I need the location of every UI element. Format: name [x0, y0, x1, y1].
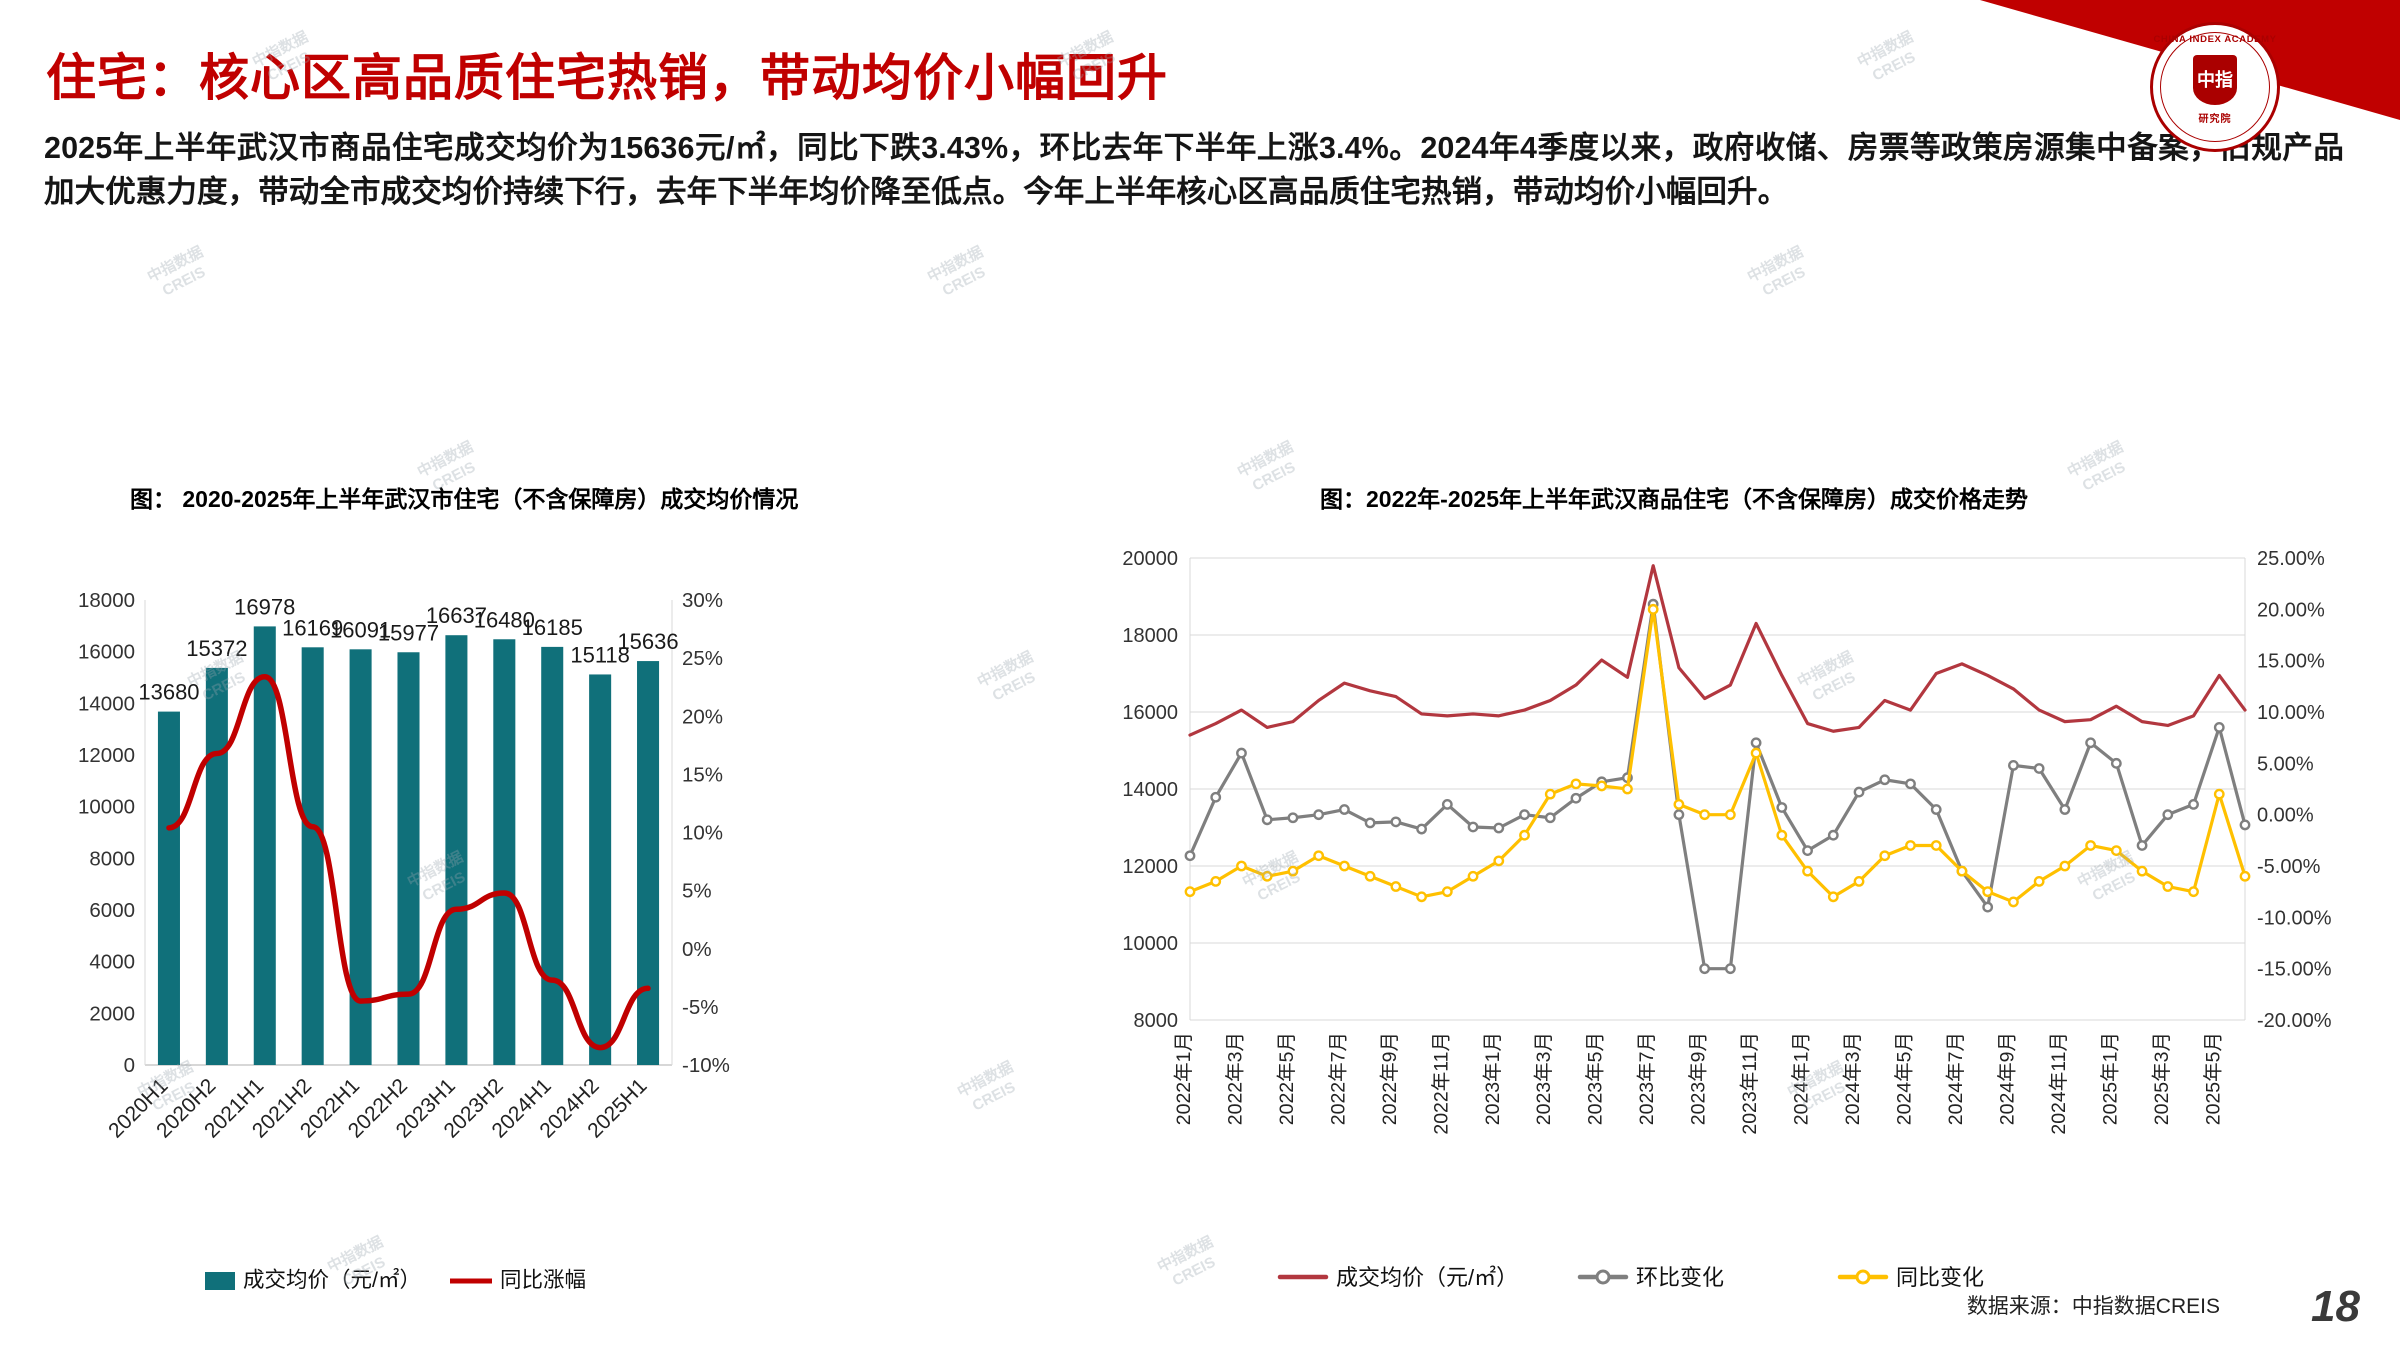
svg-text:-10%: -10%: [682, 1054, 730, 1077]
watermark: 中指数据CREIS: [1235, 438, 1305, 499]
page-title: 住宅：核心区高品质住宅热销，带动均价小幅回升: [46, 38, 1168, 110]
watermark: 中指数据CREIS: [975, 648, 1045, 709]
left-chart-title: 图： 2020-2025年上半年武汉市住宅（不含保障房）成交均价情况: [130, 480, 798, 514]
svg-text:14000: 14000: [1122, 779, 1178, 801]
svg-text:-15.00%: -15.00%: [2257, 959, 2332, 981]
svg-text:2023年1月: 2023年1月: [1482, 1032, 1504, 1125]
svg-text:环比变化: 环比变化: [1636, 1265, 1724, 1290]
logo-ring: [2160, 32, 2270, 142]
svg-text:16000: 16000: [78, 641, 135, 664]
svg-text:0%: 0%: [682, 938, 712, 961]
svg-text:18000: 18000: [78, 589, 135, 612]
svg-text:30%: 30%: [682, 589, 723, 612]
svg-text:2023年5月: 2023年5月: [1585, 1032, 1607, 1125]
svg-text:10000: 10000: [78, 796, 135, 819]
svg-text:4000: 4000: [89, 951, 135, 974]
svg-text:15.00%: 15.00%: [2257, 651, 2325, 673]
summary-paragraph: 2025年上半年武汉市商品住宅成交均价为15636元/㎡，同比下跌3.43%，环…: [44, 126, 2344, 214]
svg-text:25.00%: 25.00%: [2257, 548, 2325, 570]
svg-text:5%: 5%: [682, 880, 712, 903]
svg-text:2023年7月: 2023年7月: [1636, 1032, 1658, 1125]
right-chart: 8000100001200014000160001800020000-20.00…: [1080, 530, 2380, 1320]
svg-text:同比变化: 同比变化: [1896, 1265, 1984, 1290]
svg-text:10.00%: 10.00%: [2257, 702, 2325, 724]
watermark: 中指数据CREIS: [955, 1058, 1025, 1119]
svg-text:2022年5月: 2022年5月: [1276, 1032, 1298, 1125]
svg-text:2000: 2000: [89, 1002, 135, 1025]
svg-text:2023年11月: 2023年11月: [1739, 1032, 1761, 1135]
paragraph-part1: 2025年上半年武汉市商品住宅成交均价为15636元/: [44, 131, 735, 165]
svg-text:2023年3月: 2023年3月: [1533, 1032, 1555, 1125]
svg-text:2024年11月: 2024年11月: [2048, 1032, 2070, 1135]
svg-text:同比涨幅: 同比涨幅: [500, 1268, 586, 1292]
svg-text:-20.00%: -20.00%: [2257, 1010, 2332, 1032]
svg-text:18000: 18000: [1122, 625, 1178, 647]
svg-text:2024年5月: 2024年5月: [1893, 1032, 1915, 1125]
svg-text:0.00%: 0.00%: [2257, 805, 2314, 827]
svg-text:25%: 25%: [682, 647, 723, 670]
svg-text:16000: 16000: [1122, 702, 1178, 724]
svg-text:成交均价（元/㎡）: 成交均价（元/㎡）: [1336, 1265, 1518, 1290]
svg-text:2025年1月: 2025年1月: [2099, 1032, 2121, 1125]
svg-text:2022年3月: 2022年3月: [1224, 1032, 1246, 1125]
svg-text:-10.00%: -10.00%: [2257, 907, 2332, 929]
data-source-note: 数据来源：中指数据CREIS: [1967, 1290, 2220, 1320]
svg-text:14000: 14000: [78, 692, 135, 715]
svg-text:2022年1月: 2022年1月: [1173, 1032, 1195, 1125]
svg-text:2024年1月: 2024年1月: [1791, 1032, 1813, 1125]
svg-text:-5.00%: -5.00%: [2257, 856, 2321, 878]
svg-text:成交均价（元/㎡）: 成交均价（元/㎡）: [243, 1267, 421, 1292]
svg-text:2024年9月: 2024年9月: [1996, 1032, 2018, 1125]
svg-text:2022年7月: 2022年7月: [1327, 1032, 1349, 1125]
paragraph-unit: ㎡: [735, 131, 766, 165]
svg-text:8000: 8000: [89, 847, 135, 870]
page-number: 18: [2311, 1282, 2360, 1332]
svg-text:15%: 15%: [682, 763, 723, 786]
svg-text:5.00%: 5.00%: [2257, 753, 2314, 775]
watermark: 中指数据CREIS: [145, 243, 215, 304]
svg-text:12000: 12000: [78, 744, 135, 767]
svg-text:10000: 10000: [1122, 933, 1178, 955]
svg-text:20%: 20%: [682, 705, 723, 728]
svg-text:2022年9月: 2022年9月: [1379, 1032, 1401, 1125]
svg-text:15372: 15372: [186, 636, 247, 661]
svg-text:2025年5月: 2025年5月: [2202, 1032, 2224, 1125]
svg-text:12000: 12000: [1122, 856, 1178, 878]
svg-text:16185: 16185: [522, 615, 583, 640]
watermark: 中指数据CREIS: [1855, 28, 1925, 89]
watermark: 中指数据CREIS: [2065, 438, 2135, 499]
svg-text:-5%: -5%: [682, 996, 718, 1019]
svg-text:2024年3月: 2024年3月: [1842, 1032, 1864, 1125]
svg-text:15636: 15636: [617, 629, 678, 654]
svg-text:13680: 13680: [138, 680, 199, 705]
left-chart: 0200040006000800010000120001400016000180…: [40, 530, 740, 1320]
svg-text:10%: 10%: [682, 822, 723, 845]
right-chart-title: 图：2022年-2025年上半年武汉商品住宅（不含保障房）成交价格走势: [1320, 480, 2028, 514]
svg-text:20000: 20000: [1122, 548, 1178, 570]
svg-text:20.00%: 20.00%: [2257, 599, 2325, 621]
logo-arc-text: CHINA INDEX ACADEMY: [2153, 34, 2277, 45]
svg-text:2023年9月: 2023年9月: [1688, 1032, 1710, 1125]
svg-text:2025年3月: 2025年3月: [2151, 1032, 2173, 1125]
svg-text:2022年11月: 2022年11月: [1430, 1032, 1452, 1135]
svg-text:8000: 8000: [1134, 1010, 1179, 1032]
svg-text:2024年7月: 2024年7月: [1945, 1032, 1967, 1125]
watermark: 中指数据CREIS: [925, 243, 995, 304]
china-index-academy-logo: CHINA INDEX ACADEMY 中指 研究院: [2150, 22, 2280, 152]
svg-text:6000: 6000: [89, 899, 135, 922]
watermark: 中指数据CREIS: [1745, 243, 1815, 304]
svg-text:0: 0: [124, 1054, 135, 1077]
